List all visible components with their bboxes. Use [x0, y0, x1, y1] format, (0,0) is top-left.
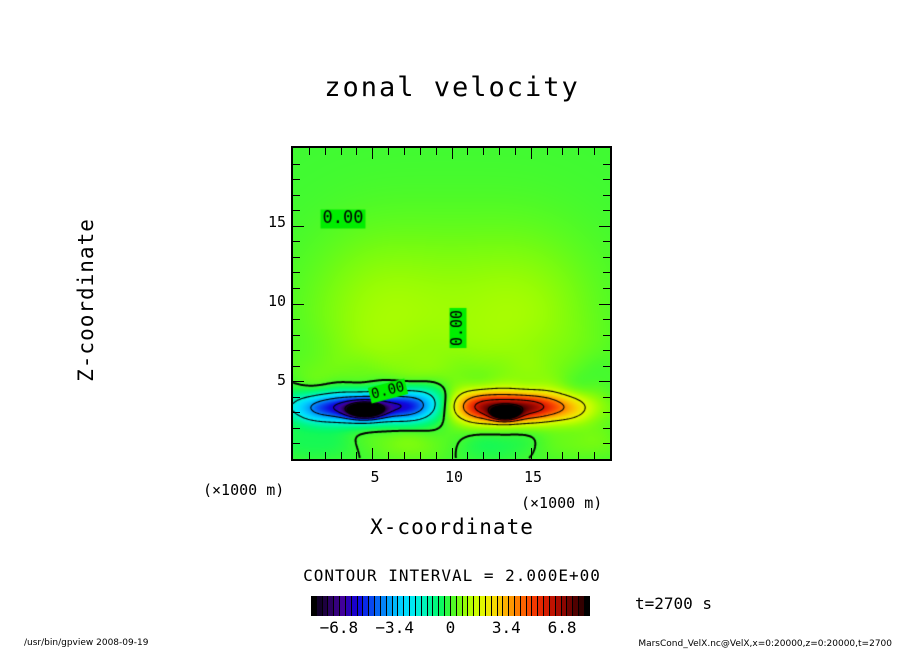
colorbar-tick-label: −3.4	[375, 618, 415, 637]
y-tick-mark	[293, 241, 300, 242]
y-tick-mark	[293, 164, 300, 165]
contour-interval-label: CONTOUR INTERVAL = 2.000E+00	[0, 566, 904, 585]
contour-field-canvas	[293, 148, 610, 459]
x-tick-mark	[356, 148, 357, 155]
x-tick-mark	[309, 148, 310, 155]
x-tick-mark	[467, 452, 468, 459]
y-tick-mark	[293, 443, 300, 444]
x-tick-mark	[436, 452, 437, 459]
x-tick-mark	[420, 148, 421, 155]
x-tick-mark	[578, 148, 579, 155]
x-tick-mark	[483, 452, 484, 459]
y-tick-mark	[293, 319, 300, 320]
footer-datasource: MarsCond_VelX.nc@VelX,x=0:20000,z=0:2000…	[638, 639, 892, 649]
y-tick-mark	[603, 179, 610, 180]
y-tick-mark	[599, 304, 610, 305]
y-tick-mark	[603, 257, 610, 258]
y-tick-mark	[293, 195, 300, 196]
y-tick-label-5: 5	[246, 371, 286, 389]
x-tick-mark	[499, 452, 500, 459]
y-tick-mark	[603, 443, 610, 444]
x-tick-label-10: 10	[434, 468, 474, 486]
time-label: t=2700 s	[635, 594, 712, 613]
colorbar-band	[585, 596, 590, 616]
x-tick-mark	[341, 148, 342, 155]
x-tick-mark	[325, 452, 326, 459]
x-tick-mark	[325, 148, 326, 155]
x-tick-mark	[420, 452, 421, 459]
x-tick-mark	[515, 452, 516, 459]
y-tick-mark	[293, 412, 300, 413]
y-tick-mark	[293, 304, 304, 305]
y-tick-mark	[293, 257, 300, 258]
colorbar-tick-label: 3.4	[486, 618, 526, 637]
x-tick-mark	[531, 448, 532, 459]
y-tick-mark	[603, 335, 610, 336]
y-tick-mark	[293, 350, 300, 351]
y-tick-label-15: 15	[246, 213, 286, 231]
y-tick-mark	[603, 412, 610, 413]
colorbar-tick-label: −6.8	[319, 618, 359, 637]
y-tick-mark	[293, 210, 300, 211]
footer-command: /usr/bin/gpview 2008-09-19	[24, 638, 148, 648]
x-tick-mark	[372, 448, 373, 459]
colorbar-tick-label: 6.8	[542, 618, 582, 637]
y-tick-mark	[293, 179, 300, 180]
y-tick-mark	[599, 381, 610, 382]
x-tick-mark	[483, 148, 484, 155]
y-tick-mark	[599, 226, 610, 227]
page-title: zonal velocity	[0, 72, 904, 103]
y-tick-mark	[293, 226, 304, 227]
x-tick-mark	[452, 448, 453, 459]
x-axis-title: X-coordinate	[0, 515, 904, 539]
y-tick-mark	[603, 428, 610, 429]
x-unit-right: (×1000 m)	[521, 494, 602, 512]
y-tick-mark	[293, 428, 300, 429]
x-unit-left: (×1000 m)	[203, 481, 284, 499]
x-tick-mark	[404, 148, 405, 155]
x-tick-mark	[467, 148, 468, 155]
x-tick-mark	[341, 452, 342, 459]
y-tick-mark	[293, 335, 300, 336]
y-tick-mark	[603, 319, 610, 320]
x-tick-mark	[515, 148, 516, 155]
y-tick-mark	[603, 350, 610, 351]
x-tick-mark	[562, 148, 563, 155]
y-tick-mark	[293, 366, 300, 367]
x-tick-mark	[404, 452, 405, 459]
y-tick-mark	[293, 397, 300, 398]
x-tick-label-5: 5	[355, 468, 395, 486]
x-tick-mark	[531, 148, 532, 159]
y-axis-title: Z-coordinate	[74, 190, 98, 410]
colorbar	[311, 596, 590, 616]
y-tick-mark	[603, 195, 610, 196]
colorbar-tick-label: 0	[431, 618, 471, 637]
x-tick-mark	[372, 148, 373, 159]
x-tick-mark	[578, 452, 579, 459]
x-tick-label-15: 15	[513, 468, 553, 486]
x-tick-mark	[547, 148, 548, 155]
x-tick-mark	[499, 148, 500, 155]
x-tick-mark	[436, 148, 437, 155]
x-tick-mark	[356, 452, 357, 459]
y-tick-mark	[603, 366, 610, 367]
y-tick-mark	[293, 272, 300, 273]
y-tick-mark	[603, 164, 610, 165]
y-tick-mark	[293, 381, 304, 382]
x-tick-mark	[309, 452, 310, 459]
y-tick-mark	[603, 397, 610, 398]
x-tick-mark	[547, 452, 548, 459]
y-tick-label-10: 10	[246, 292, 286, 310]
y-tick-mark	[603, 272, 610, 273]
contour-plot-area	[291, 146, 612, 461]
x-tick-mark	[562, 452, 563, 459]
x-tick-mark	[388, 452, 389, 459]
y-tick-mark	[603, 241, 610, 242]
y-tick-mark	[603, 210, 610, 211]
x-tick-mark	[388, 148, 389, 155]
x-tick-mark	[452, 148, 453, 159]
colorbar-tick-labels: −6.8−3.403.46.8	[291, 618, 611, 638]
y-tick-mark	[293, 288, 300, 289]
x-tick-mark	[594, 148, 595, 155]
y-tick-mark	[603, 288, 610, 289]
x-tick-mark	[594, 452, 595, 459]
